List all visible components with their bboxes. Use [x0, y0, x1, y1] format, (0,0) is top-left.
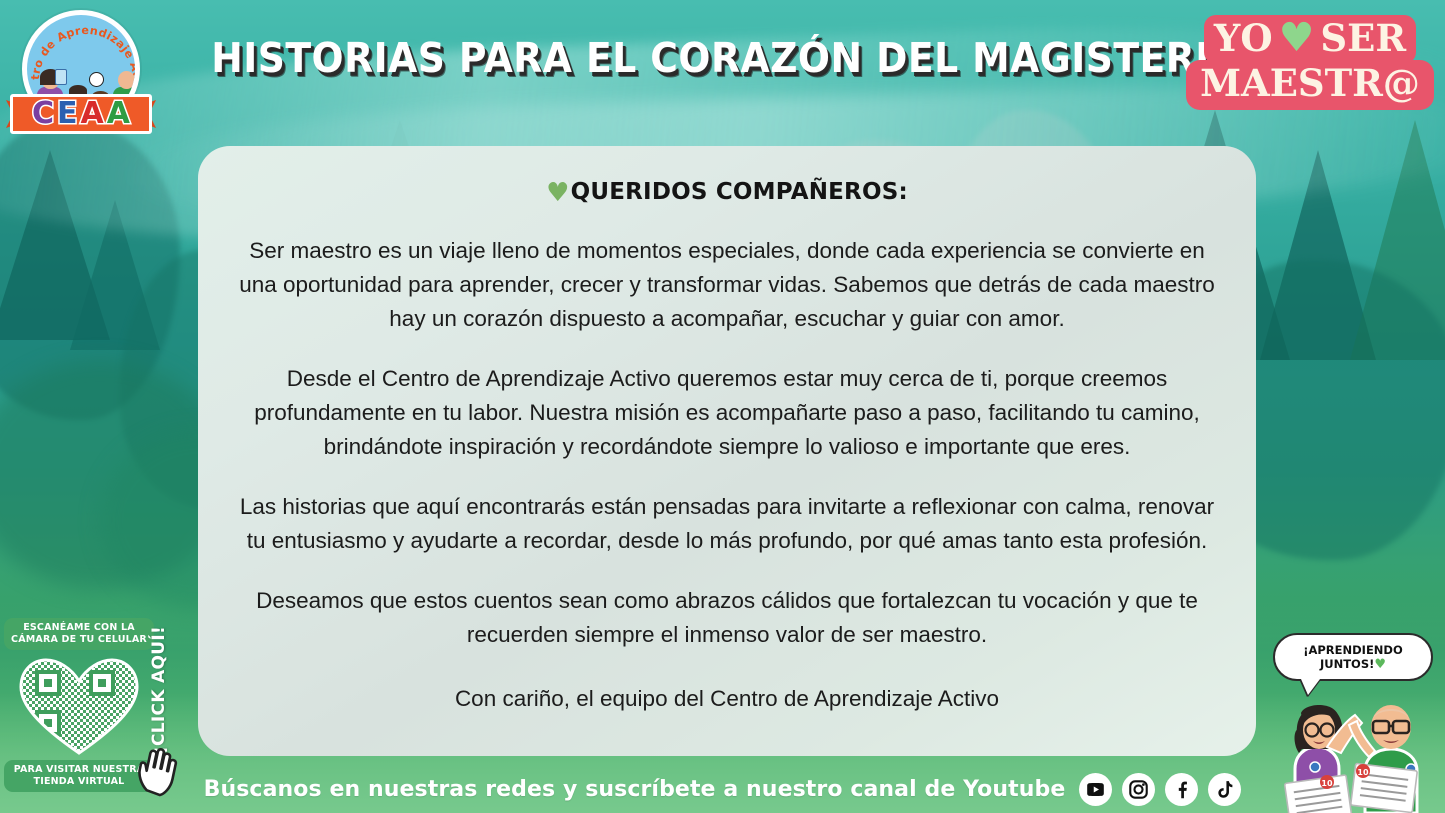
qr-heart-svg[interactable] [17, 656, 141, 756]
logo-banner: C E A A [6, 92, 156, 138]
speech-bubble: ¡APRENDIENDO JUNTOS!♥ [1273, 633, 1433, 681]
heart-icon: ♥ [1374, 657, 1386, 672]
closing-signature: Con cariño, el equipo del Centro de Apre… [226, 682, 1228, 716]
logo-letter-c: C [32, 99, 54, 129]
logo-letter-a1: A [81, 99, 104, 129]
message-card: ♥QUERIDOS COMPAÑEROS: Ser maestro es un … [198, 146, 1256, 756]
page-title: HISTORIAS PARA EL CORAZÓN DEL MAGISTERIO [211, 34, 1159, 82]
heart-icon: ♥ [546, 178, 570, 208]
teacher-characters-svg: 10 10 [1265, 683, 1441, 813]
badge-line-1: YO ♥ SER [1204, 15, 1416, 64]
heart-icon: ♥ [1279, 20, 1315, 56]
badge-line-2: MAESTR@ [1186, 60, 1434, 110]
paragraph: Las historias que aquí encontrarás están… [226, 490, 1228, 558]
qr-code-heart[interactable] [17, 656, 141, 756]
teachers-illustration: ¡APRENDIENDO JUNTOS!♥ [1265, 633, 1441, 813]
qr-label-top: ESCANÉAME CON LA CÁMARA DE TU CELULAR [4, 618, 154, 650]
badge-ser-text: SER [1320, 20, 1406, 57]
badge-yo-text: YO [1214, 20, 1273, 57]
svg-text:10: 10 [1321, 779, 1333, 788]
bubble-line-1: ¡APRENDIENDO [1303, 643, 1403, 657]
tiktok-icon[interactable] [1208, 773, 1241, 806]
ceaa-logo: Centro de Aprendizaje Activo [6, 8, 156, 140]
card-heading-text: QUERIDOS COMPAÑEROS: [571, 179, 908, 205]
logo-letter-e: E [57, 99, 78, 129]
poster-canvas: Centro de Aprendizaje Activo [0, 0, 1445, 813]
footer-bar: Búscanos en nuestras redes y suscríbete … [0, 765, 1445, 813]
youtube-icon[interactable] [1079, 773, 1112, 806]
instagram-icon[interactable] [1122, 773, 1155, 806]
click-here-label: ¡CLICK AQUÍ! [149, 625, 169, 755]
logo-letter-a2: A [107, 99, 130, 129]
logo-letters: C E A A [14, 97, 148, 131]
social-links [1079, 773, 1241, 806]
paragraph: Desde el Centro de Aprendizaje Activo qu… [226, 362, 1228, 464]
qr-promo-block[interactable]: ESCANÉAME CON LA CÁMARA DE TU CELULAR [4, 618, 154, 798]
click-here-callout[interactable]: ¡CLICK AQUÍ! [146, 628, 172, 758]
bubble-line-2: JUNTOS! [1320, 657, 1374, 671]
facebook-icon[interactable] [1165, 773, 1198, 806]
paper-right: 10 [1351, 763, 1418, 812]
footer-text: Búscanos en nuestras redes y suscríbete … [204, 777, 1066, 802]
paragraph: Deseamos que estos cuentos sean como abr… [226, 584, 1228, 652]
svg-text:10: 10 [1357, 768, 1369, 777]
card-body: Ser maestro es un viaje lleno de momento… [226, 234, 1228, 716]
card-heading: ♥QUERIDOS COMPAÑEROS: [226, 178, 1228, 208]
yo-ser-maestro-badge: YO ♥ SER MAESTR@ [1185, 16, 1435, 108]
paragraph: Ser maestro es un viaje lleno de momento… [226, 234, 1228, 336]
